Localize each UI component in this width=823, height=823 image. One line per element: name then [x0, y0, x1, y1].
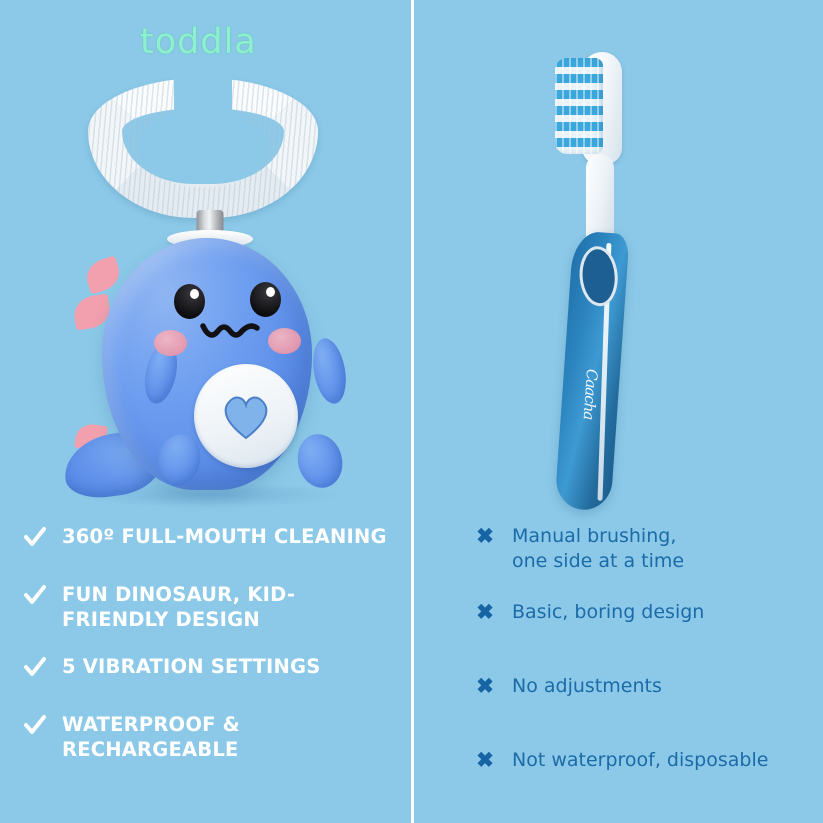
list-item: ✖ Manual brushing, one side at a time [474, 524, 814, 574]
feature-label: FUN DINOSAUR, KID-FRIENDLY DESIGN [62, 582, 400, 632]
feature-label: 360º FULL-MOUTH CLEANING [62, 524, 387, 549]
toothbrush-bristles [555, 58, 603, 154]
right-product-image: Caacha [520, 22, 720, 512]
feature-label: No adjustments [512, 674, 662, 699]
eye-highlight [266, 287, 275, 297]
feature-label: Manual brushing, one side at a time [512, 524, 684, 574]
cross-icon: ✖ [474, 600, 496, 626]
cross-icon: ✖ [474, 674, 496, 700]
product-shadow [74, 482, 344, 508]
check-icon [24, 524, 46, 550]
dino-arm-right [309, 336, 351, 406]
list-item: ✖ No adjustments [474, 674, 814, 700]
list-item: 5 VIBRATION SETTINGS [24, 654, 400, 680]
comparison-infographic: toddla [0, 0, 823, 823]
feature-label: Not waterproof, disposable [512, 748, 768, 773]
dino-cheek-left [154, 330, 187, 356]
dino-mouth-icon [200, 322, 260, 344]
mouthpiece-opening [174, 72, 232, 118]
dino-eye-left [174, 284, 205, 319]
dino-foot-right [292, 429, 348, 492]
dino-body [102, 238, 312, 490]
list-item: FUN DINOSAUR, KID-FRIENDLY DESIGN [24, 582, 400, 632]
list-item: ✖ Not waterproof, disposable [474, 748, 814, 774]
dino-spike-icon [82, 255, 124, 294]
u-shaped-mouthpiece-icon [88, 78, 318, 218]
check-icon [24, 654, 46, 680]
panel-divider [411, 0, 414, 823]
thumb-grip-pad [578, 245, 620, 308]
feature-label: WATERPROOF & RECHARGEABLE [62, 712, 400, 762]
feature-label: Basic, boring design [512, 600, 704, 625]
feature-label: 5 VIBRATION SETTINGS [62, 654, 320, 679]
dino-cheek-right [268, 328, 301, 354]
left-product-image [40, 70, 380, 515]
toothbrush-handle-logo: Caacha [580, 368, 601, 413]
dinosaur-character [64, 238, 350, 510]
cross-icon: ✖ [474, 748, 496, 774]
right-feature-list: ✖ Manual brushing, one side at a time ✖ … [474, 524, 814, 794]
heart-icon [219, 391, 273, 441]
power-button[interactable] [194, 364, 298, 468]
cross-icon: ✖ [474, 524, 496, 550]
eye-highlight [190, 289, 199, 299]
left-feature-list: 360º FULL-MOUTH CLEANING FUN DINOSAUR, K… [24, 524, 400, 784]
list-item: WATERPROOF & RECHARGEABLE [24, 712, 400, 762]
brand-logo: toddla [140, 22, 257, 62]
dino-eye-right [250, 282, 281, 317]
toothbrush-handle: Caacha [554, 230, 629, 511]
check-icon [24, 582, 46, 608]
list-item: ✖ Basic, boring design [474, 600, 814, 626]
list-item: 360º FULL-MOUTH CLEANING [24, 524, 400, 550]
check-icon [24, 712, 46, 738]
